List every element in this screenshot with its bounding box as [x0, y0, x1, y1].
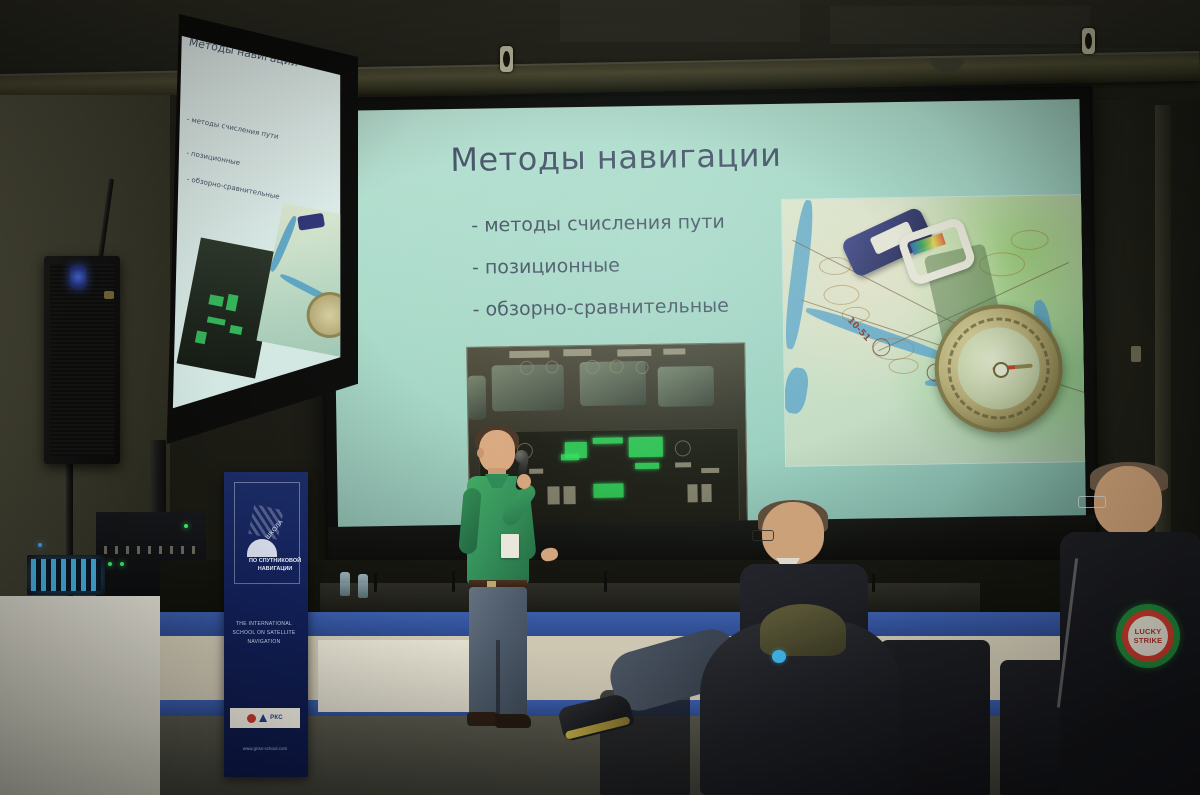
banner-url: www.gnss-school.com — [230, 746, 300, 751]
glasses-icon — [752, 530, 774, 541]
pa-speaker — [44, 256, 120, 464]
presenter-shoe — [495, 714, 531, 728]
presenter-head — [479, 430, 515, 472]
banner-logo-box: ШКОЛА ПО СПУТНИКОВОЙ НАВИГАЦИИ — [234, 482, 300, 584]
monitor-slide-bullet: - позиционные — [186, 149, 241, 167]
ceiling-speaker-icon — [500, 46, 513, 72]
jacket-patch-lucky-strike: LUCKY STRIKE — [1116, 604, 1180, 668]
presenter — [455, 430, 565, 785]
ceiling-speaker-icon — [1082, 28, 1095, 54]
left-white-panel — [0, 596, 178, 795]
presenter-hand — [540, 546, 559, 562]
rack-status-led-icon — [108, 562, 112, 566]
patch-text-line2: STRIKE — [1134, 636, 1163, 645]
sponsor-name: РКС — [270, 715, 283, 721]
wall-fixture-icon — [1131, 346, 1141, 362]
slide-title: Методы навигации — [450, 136, 782, 179]
rks-logo-icon — [259, 714, 267, 722]
slide-bullet-list: - методы счисления пути - позиционные - … — [471, 211, 729, 321]
ceiling-coffer — [830, 6, 1090, 44]
mixer-power-led-icon — [38, 543, 42, 547]
monitor-image-map — [256, 203, 342, 357]
projection-screen-surface: Методы навигации - методы счисления пути… — [332, 99, 1086, 529]
slide-bullet: - позиционные — [472, 253, 729, 279]
microphone-head-icon — [515, 450, 528, 463]
audience-member-right: LUCKY STRIKE — [1060, 466, 1200, 795]
slide-bullet: - обзорно-сравнительные — [472, 295, 729, 321]
mixer-button-grid[interactable] — [31, 559, 101, 591]
photo-scene: Методы навигации - методы счисления пути… — [0, 0, 1200, 795]
rack-status-led-icon — [120, 562, 124, 566]
table-microphone — [604, 568, 607, 592]
projection-screen: Методы навигации - методы счисления пути… — [318, 86, 1099, 574]
banner-title-ru-bottom: ПО СПУТНИКОВОЙ НАВИГАЦИИ — [241, 557, 309, 573]
banner-sponsor-strip: РКС — [230, 708, 300, 728]
audience-torso — [1060, 532, 1200, 795]
monitor-slide-bullet: - методы счисления пути — [186, 115, 279, 141]
presenter-ear — [477, 448, 484, 458]
microphone-head-icon — [601, 560, 610, 571]
monitor-slide-bullet: - обзорно-сравнительные — [186, 175, 280, 201]
rack-status-led-icon — [184, 524, 188, 528]
slide-image-map: 10-51 75-8 — [781, 194, 1086, 467]
bag-accessory-icon — [772, 650, 786, 663]
confidence-monitor: Методы навигации - методы счисления пути… — [150, 14, 358, 444]
patch-text-line1: LUCKY — [1135, 627, 1162, 636]
table-microphone — [872, 570, 875, 592]
conference-banner: ШКОЛА ПО СПУТНИКОВОЙ НАВИГАЦИИ THE INTER… — [224, 472, 308, 777]
presenter-name-badge — [501, 534, 519, 558]
ceiling-coffer — [560, 0, 800, 42]
monitor-gps-icon — [297, 213, 325, 231]
panel-table — [320, 583, 980, 613]
sponsor-mark-icon — [247, 714, 256, 723]
speaker-power-led-icon — [70, 266, 86, 288]
glasses-icon — [1078, 496, 1106, 508]
monitor-compass-icon — [303, 288, 342, 342]
lighting-mixer-console[interactable] — [27, 555, 105, 595]
microphone-head-icon — [371, 562, 380, 573]
water-bottle-icon — [358, 574, 368, 598]
microphone-head-icon — [869, 562, 878, 573]
table-microphone — [374, 570, 377, 592]
slide-bullet: - методы счисления пути — [471, 211, 728, 237]
monitor-screen: Методы навигации - методы счисления пути… — [164, 28, 342, 420]
presenter-hand — [517, 474, 531, 489]
banner-title-en: THE INTERNATIONAL SCHOOL ON SATELLITE NA… — [230, 620, 298, 647]
water-bottle-icon — [340, 572, 350, 596]
coat-hood — [760, 604, 846, 656]
